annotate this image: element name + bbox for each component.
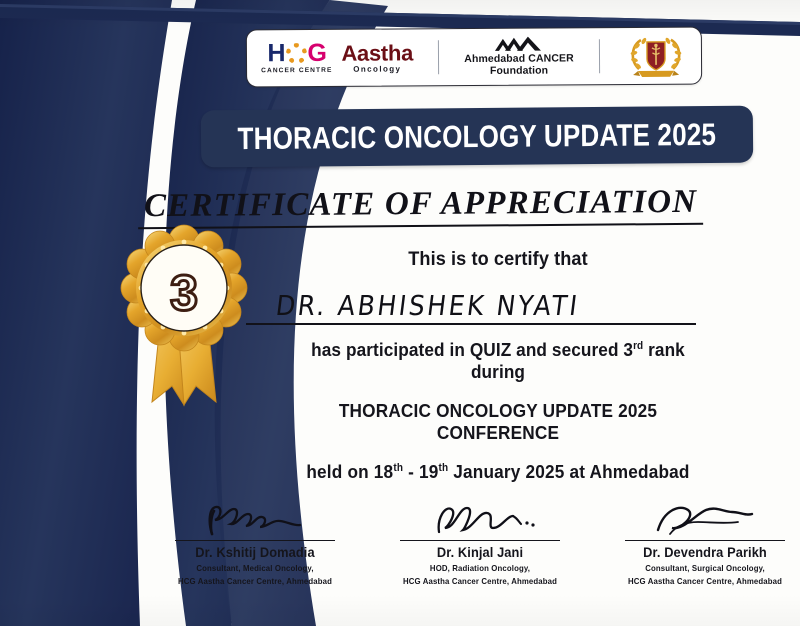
held-middle: - 19 [403,461,438,482]
signatory-role-3: Consultant, Surgical Oncology, [607,563,800,573]
signatory-org-2: HCG Aastha Cancer Centre, Ahmedabad [382,576,577,586]
held-line: held on 18th - 19th January 2025 at Ahme… [284,461,712,483]
certificate-page: H G CANCER CENTRE Aastha Oncology Ahmeda… [0,0,800,626]
signature-block-2: Dr. Kinjal Jani HOD, Radiation Oncology,… [375,500,585,586]
participation-prefix: has participated in QUIZ and secured 3 [311,339,633,360]
participation-ordinal: rd [633,340,643,352]
logo-crest [625,33,687,79]
handwritten-signature-icon [190,500,320,538]
aastha-name: Aastha [341,42,413,64]
signature-rule-3 [625,540,785,541]
logo-ahmedabad-cancer-foundation: Ahmedabad CANCER Foundation [464,37,574,77]
signature-row: Dr. Kshitij Domadia Consultant, Medical … [150,500,800,586]
signatory-name-1: Dr. Kshitij Domadia [155,545,355,560]
signature-rule-1 [175,540,335,541]
held-ordinal-2: th [438,462,448,474]
signature-block-3: Dr. Devendra Parikh Consultant, Surgical… [600,500,800,586]
participation-line: has participated in QUIZ and secured 3rd… [284,339,712,383]
signature-mark-2 [375,500,585,540]
recipient-name: DR. ABHISHEK NYATI [274,290,581,322]
laurel-shield-crest-icon [625,33,687,79]
signatory-org-1: HCG Aastha Cancer Centre, Ahmedabad [157,576,352,586]
handwritten-signature-icon [415,500,545,538]
signatory-name-3: Dr. Devendra Parikh [605,545,800,560]
hcg-letter-h: H [267,41,284,66]
signature-mark-3 [600,500,800,540]
signatory-org-3: HCG Aastha Cancer Centre, Ahmedabad [607,576,800,586]
aastha-subtitle: Oncology [353,65,401,73]
certificate-type-heading: CERTIFICATE OF APPRECIATION [0,186,800,227]
event-title-banner: THORACIC ONCOLOGY UPDATE 2025 [201,106,753,168]
logo-divider-2 [599,39,600,73]
held-ordinal-1: th [393,462,403,474]
signature-mark-1 [150,500,360,540]
held-suffix: January 2025 at Ahmedabad [448,461,689,482]
signatory-role-1: Consultant, Medical Oncology, [157,563,352,573]
conference-line: THORACIC ONCOLOGY UPDATE 2025 CONFERENCE [284,400,712,444]
mountain-chevrons-icon [491,37,547,52]
signatory-name-2: Dr. Kinjal Jani [380,545,580,560]
hcg-letter-g: G [307,41,326,66]
signatory-role-2: HOD, Radiation Oncology, [382,563,577,573]
event-title: THORACIC ONCOLOGY UPDATE 2025 [238,116,717,156]
signature-block-1: Dr. Kshitij Domadia Consultant, Medical … [150,500,360,586]
hcg-logo: H G CANCER CENTRE [261,41,333,75]
signature-rule-2 [400,540,560,541]
handwritten-signature-icon [640,500,770,538]
certify-line: This is to certify that [284,248,712,271]
logo-bar: H G CANCER CENTRE Aastha Oncology Ahmeda… [246,27,702,88]
hcg-gear-c-icon [285,43,306,64]
logo-hcg-aastha: H G CANCER CENTRE Aastha Oncology [261,41,413,76]
certificate-body: This is to certify that DR. ABHISHEK NYA… [268,248,728,483]
logo-divider-1 [438,40,439,74]
hcg-subtitle: CANCER CENTRE [261,68,332,75]
recipient-name-field: DR. ABHISHEK NYATI [246,279,696,325]
aastha-logo: Aastha Oncology [341,42,413,73]
held-prefix: held on 18 [306,461,393,482]
gold-rosette-ribbon-icon: 3 [104,222,264,407]
rank-number: 3 [170,265,198,321]
acf-line-2: Foundation [490,65,548,77]
